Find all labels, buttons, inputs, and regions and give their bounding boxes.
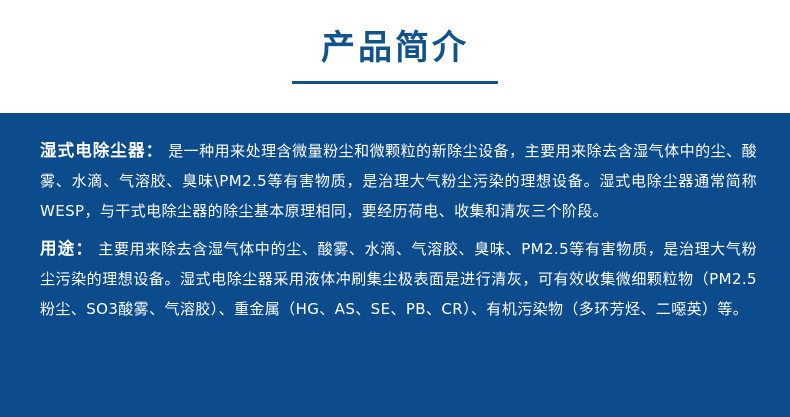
paragraph-label-wet-esp: 湿式电除尘器： xyxy=(40,141,163,160)
paragraph-label-usage: 用途： xyxy=(40,239,93,258)
page-header: 产品简介 xyxy=(0,0,790,113)
paragraph-text-usage: 主要用来除去含湿气体中的尘、酸雾、水滴、气溶胶、臭味、PM2.5等有害物质，是治… xyxy=(40,240,757,318)
paragraph-wet-esp: 湿式电除尘器：是一种用来处理含微量粉尘和微颗粒的新除尘设备，主要用来除去含湿气体… xyxy=(40,136,757,226)
title-underline-divider xyxy=(292,81,498,84)
page-title: 产品简介 xyxy=(321,28,469,68)
paragraph-usage: 用途：主要用来除去含湿气体中的尘、酸雾、水滴、气溶胶、臭味、PM2.5等有害物质… xyxy=(40,234,757,324)
description-panel: 湿式电除尘器：是一种用来处理含微量粉尘和微颗粒的新除尘设备，主要用来除去含湿气体… xyxy=(0,113,790,417)
product-introduction-page: 产品简介 湿式电除尘器：是一种用来处理含微量粉尘和微颗粒的新除尘设备，主要用来除… xyxy=(0,0,790,417)
